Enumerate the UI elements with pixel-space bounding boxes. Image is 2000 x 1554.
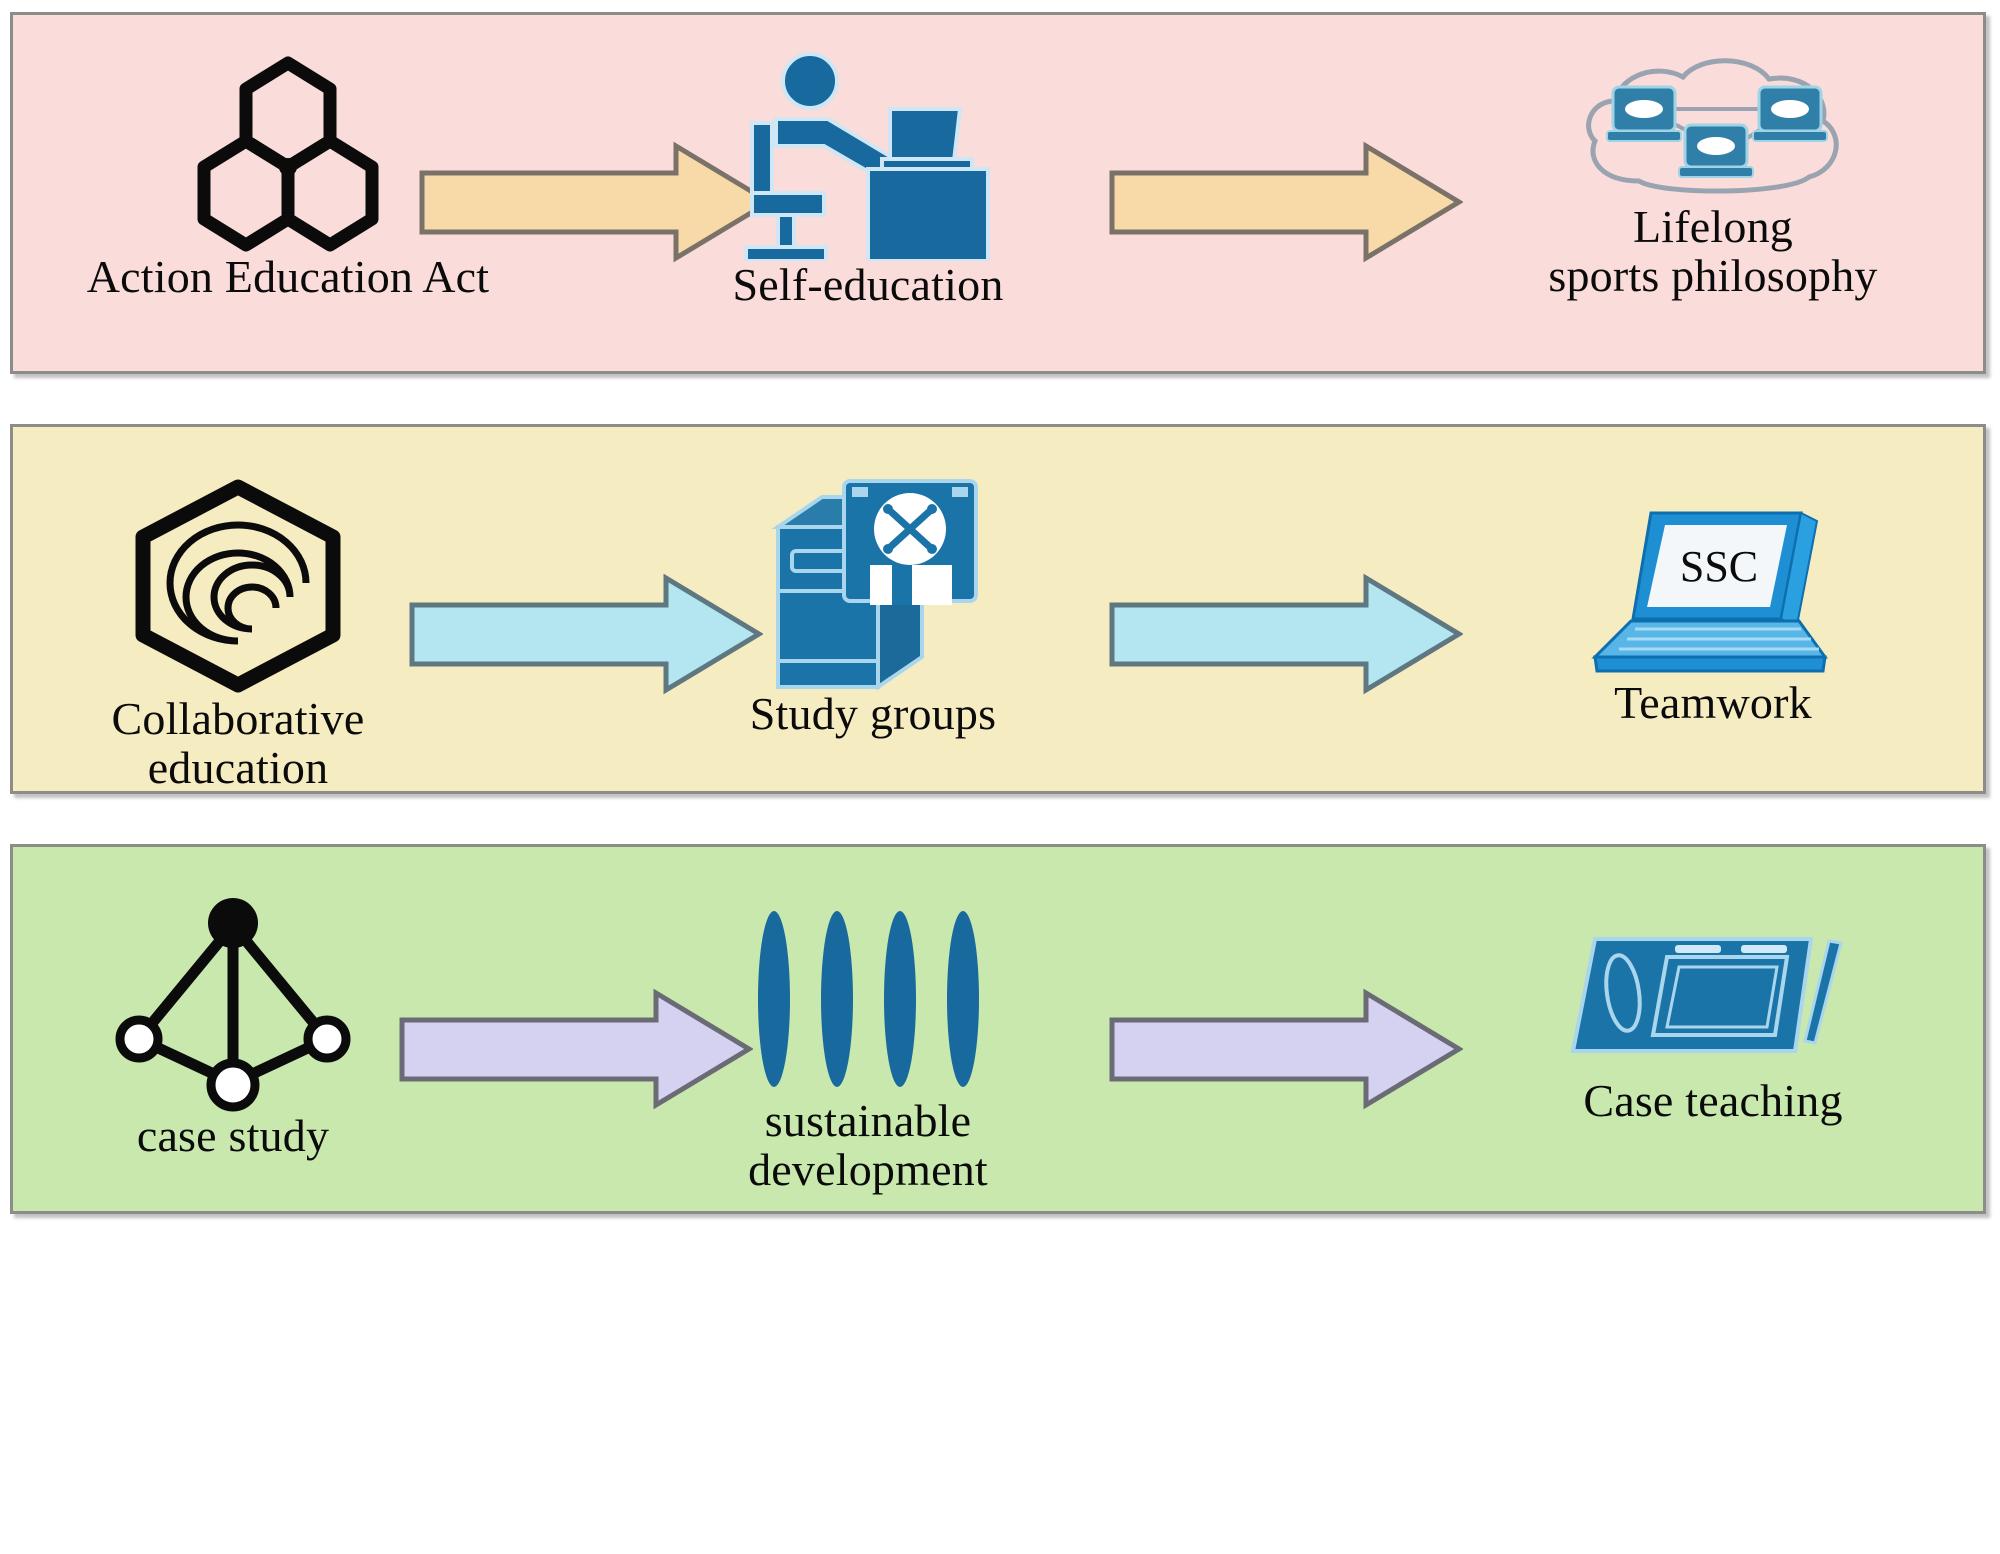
row-case-study-panel: case study sustainable development	[10, 844, 1986, 1214]
stage-study-groups: Study groups	[613, 475, 1133, 739]
stage-case-teaching: Case teaching	[1448, 927, 1978, 1126]
arrow-right-icon	[1108, 987, 1463, 1112]
stage-label: Lifelong sports philosophy	[1443, 203, 1983, 301]
process-diagram: Action Education Act	[0, 0, 2000, 1554]
stage-label: Case teaching	[1448, 1077, 1978, 1126]
arrow-right-icon	[1108, 140, 1463, 265]
arrow-right-icon	[1108, 572, 1463, 697]
honeycomb-hexagons-icon	[158, 53, 418, 253]
laptop-screen-text: SSC	[1680, 542, 1758, 591]
stage-label: Collaborative education	[13, 695, 463, 793]
floppy-disk	[844, 481, 976, 605]
stage-label: Self-education	[608, 261, 1128, 310]
stage-sustainable-development: sustainable development	[603, 907, 1133, 1195]
desktop-tower-floppy-disk-icon	[748, 475, 998, 690]
row-collaborative-education-panel: Collaborative education	[10, 424, 1986, 794]
hexagon-spiral-icon	[113, 475, 363, 695]
cloud-network-computers-icon	[1573, 53, 1853, 203]
graphics-tablet-stylus-icon	[1563, 927, 1863, 1077]
computer-node-right	[1753, 87, 1827, 141]
computer-node-left	[1607, 87, 1681, 141]
stage-label: case study	[13, 1112, 453, 1161]
stage-label: Teamwork	[1453, 679, 1973, 728]
stage-lifelong-sports-philosophy: Lifelong sports philosophy	[1443, 53, 1983, 301]
person-at-desk-computer-icon	[738, 51, 998, 261]
row-action-education-panel: Action Education Act	[10, 12, 1986, 374]
four-vertical-ellipses-icon	[738, 907, 998, 1097]
stage-teamwork: SSC Teamwork	[1453, 499, 1973, 728]
stage-case-study: case study	[13, 897, 453, 1161]
stage-label: sustainable development	[603, 1097, 1133, 1195]
stage-collaborative-education: Collaborative education	[13, 475, 463, 793]
computer-node-bottom	[1679, 125, 1753, 177]
stage-label: Study groups	[613, 690, 1133, 739]
tetrahedron-nodes-icon	[103, 897, 363, 1112]
stage-self-education: Self-education	[608, 51, 1128, 310]
laptop-ssc-icon: SSC	[1573, 499, 1853, 679]
